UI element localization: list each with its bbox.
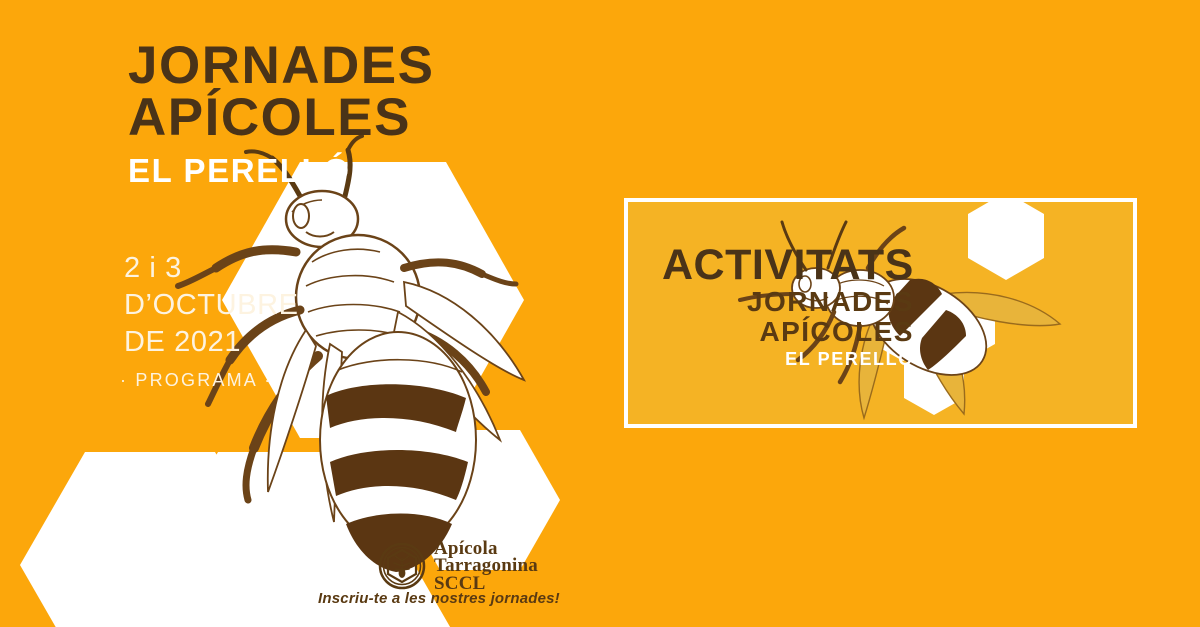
activitats-heading: ACTIVITATS: [662, 244, 914, 287]
activitats-sub-jornades: JORNADES: [662, 287, 914, 317]
activitats-sub-apicoles: APÍCOLES: [662, 317, 914, 347]
logo-wordmark: Apícola Tarragonina SCCL: [434, 540, 538, 592]
date-line-2: D’OCTUBRE: [124, 287, 299, 324]
left-pane: JORNADES APÍCOLES EL PERELLÓ 2 i 3 D’OCT…: [0, 0, 600, 627]
activitats-panel[interactable]: ACTIVITATS JORNADES APÍCOLES EL PERELLÓ: [624, 198, 1137, 428]
poster-canvas: JORNADES APÍCOLES EL PERELLÓ 2 i 3 D’OCT…: [0, 0, 1200, 627]
bee-hexagon-emblem-icon: [378, 542, 426, 590]
registration-tagline: Inscriu-te a les nostres jornades!: [318, 590, 560, 607]
programa-label: · PROGRAMA ·: [120, 370, 272, 391]
date-line-3: DE 2021: [124, 324, 299, 361]
main-title-block: JORNADES APÍCOLES EL PERELLÓ: [128, 40, 558, 193]
event-date-block: 2 i 3 D’OCTUBRE DE 2021: [124, 250, 299, 361]
activitats-text-block: ACTIVITATS JORNADES APÍCOLES EL PERELLÓ: [662, 244, 914, 370]
activitats-sub-el-perello: EL PERELLÓ: [662, 349, 914, 370]
title-subtitle-el-perello: EL PERELLÓ: [128, 149, 558, 194]
title-line-apicoles: APÍCOLES: [128, 92, 558, 144]
apicola-tarragonina-logo: Apícola Tarragonina SCCL: [378, 540, 538, 592]
title-line-jornades: JORNADES: [128, 40, 558, 92]
date-line-1: 2 i 3: [124, 250, 299, 287]
